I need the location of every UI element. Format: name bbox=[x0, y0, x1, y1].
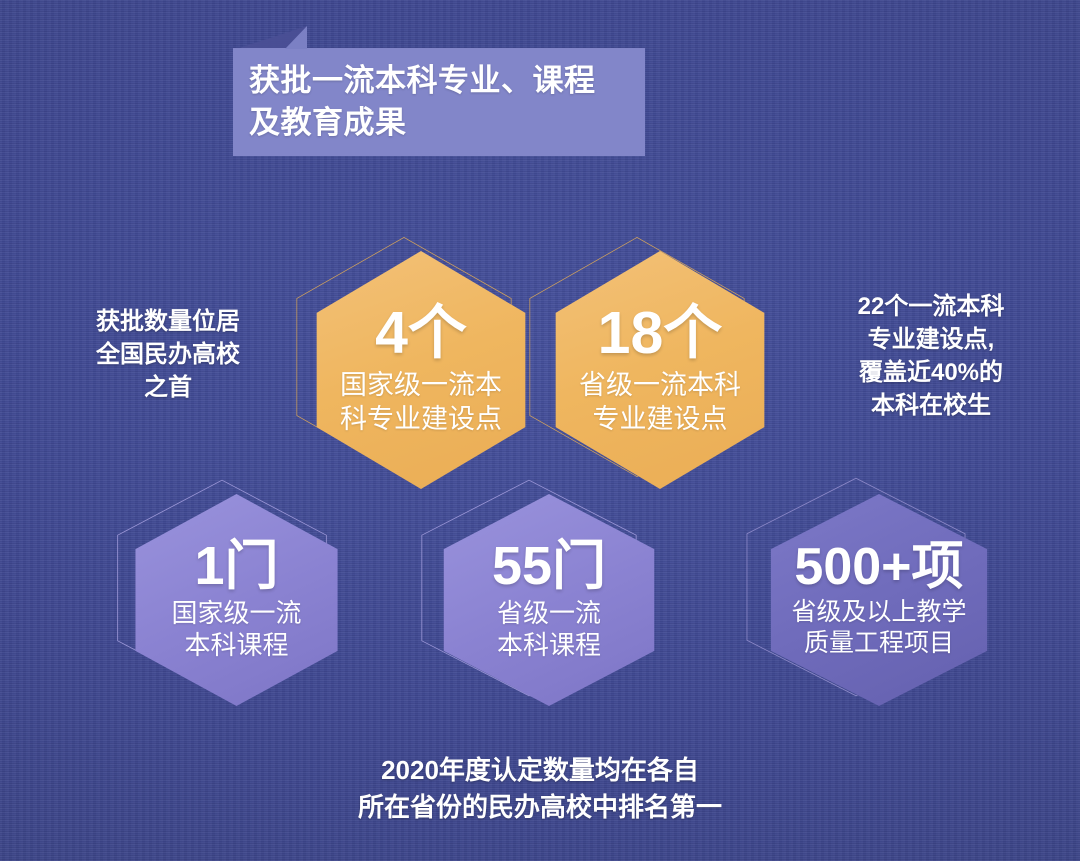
stat-label: 省级及以上教学 质量工程项目 bbox=[791, 597, 966, 660]
page-title: 获批一流本科专业、课程 及教育成果 bbox=[249, 48, 649, 156]
stat-number: 18个 bbox=[598, 304, 723, 363]
stat-hexagon-national-courses: 1门 国家级一流 本科课程 bbox=[129, 494, 344, 706]
stat-hexagon-provincial-courses: 55门 省级一流 本科课程 bbox=[437, 494, 661, 706]
stat-label: 省级一流 本科课程 bbox=[497, 597, 601, 662]
stat-number: 4个 bbox=[375, 304, 467, 363]
infographic-canvas: 获批一流本科专业、课程 及教育成果 获批数量位居 全国民办高校 之首 22个一流… bbox=[0, 0, 1080, 861]
stat-label: 省级一流本科 专业建设点 bbox=[579, 369, 741, 437]
stat-hexagon-national-majors: 4个 国家级一流本 科专业建设点 bbox=[310, 251, 532, 489]
stat-label: 国家级一流本 科专业建设点 bbox=[340, 369, 502, 437]
page-title-line-1: 获批一流本科专业、课程 bbox=[249, 60, 649, 102]
stat-number: 1门 bbox=[194, 539, 278, 593]
page-title-line-2: 及教育成果 bbox=[249, 102, 649, 144]
stat-hexagon-quality-projects: 500+项 省级及以上教学 质量工程项目 bbox=[764, 494, 994, 706]
caption-right: 22个一流本科 专业建设点, 覆盖近40%的 本科在校生 bbox=[806, 290, 1056, 422]
footer-note: 2020年度认定数量均在各自 所在省份的民办高校中排名第一 bbox=[0, 752, 1080, 826]
stat-label: 国家级一流 本科课程 bbox=[171, 597, 301, 662]
stat-hexagon-provincial-majors: 18个 省级一流本科 专业建设点 bbox=[549, 251, 771, 489]
stat-number: 55门 bbox=[492, 539, 606, 593]
stat-number: 500+项 bbox=[794, 541, 963, 593]
caption-left: 获批数量位居 全国民办高校 之首 bbox=[46, 305, 290, 404]
